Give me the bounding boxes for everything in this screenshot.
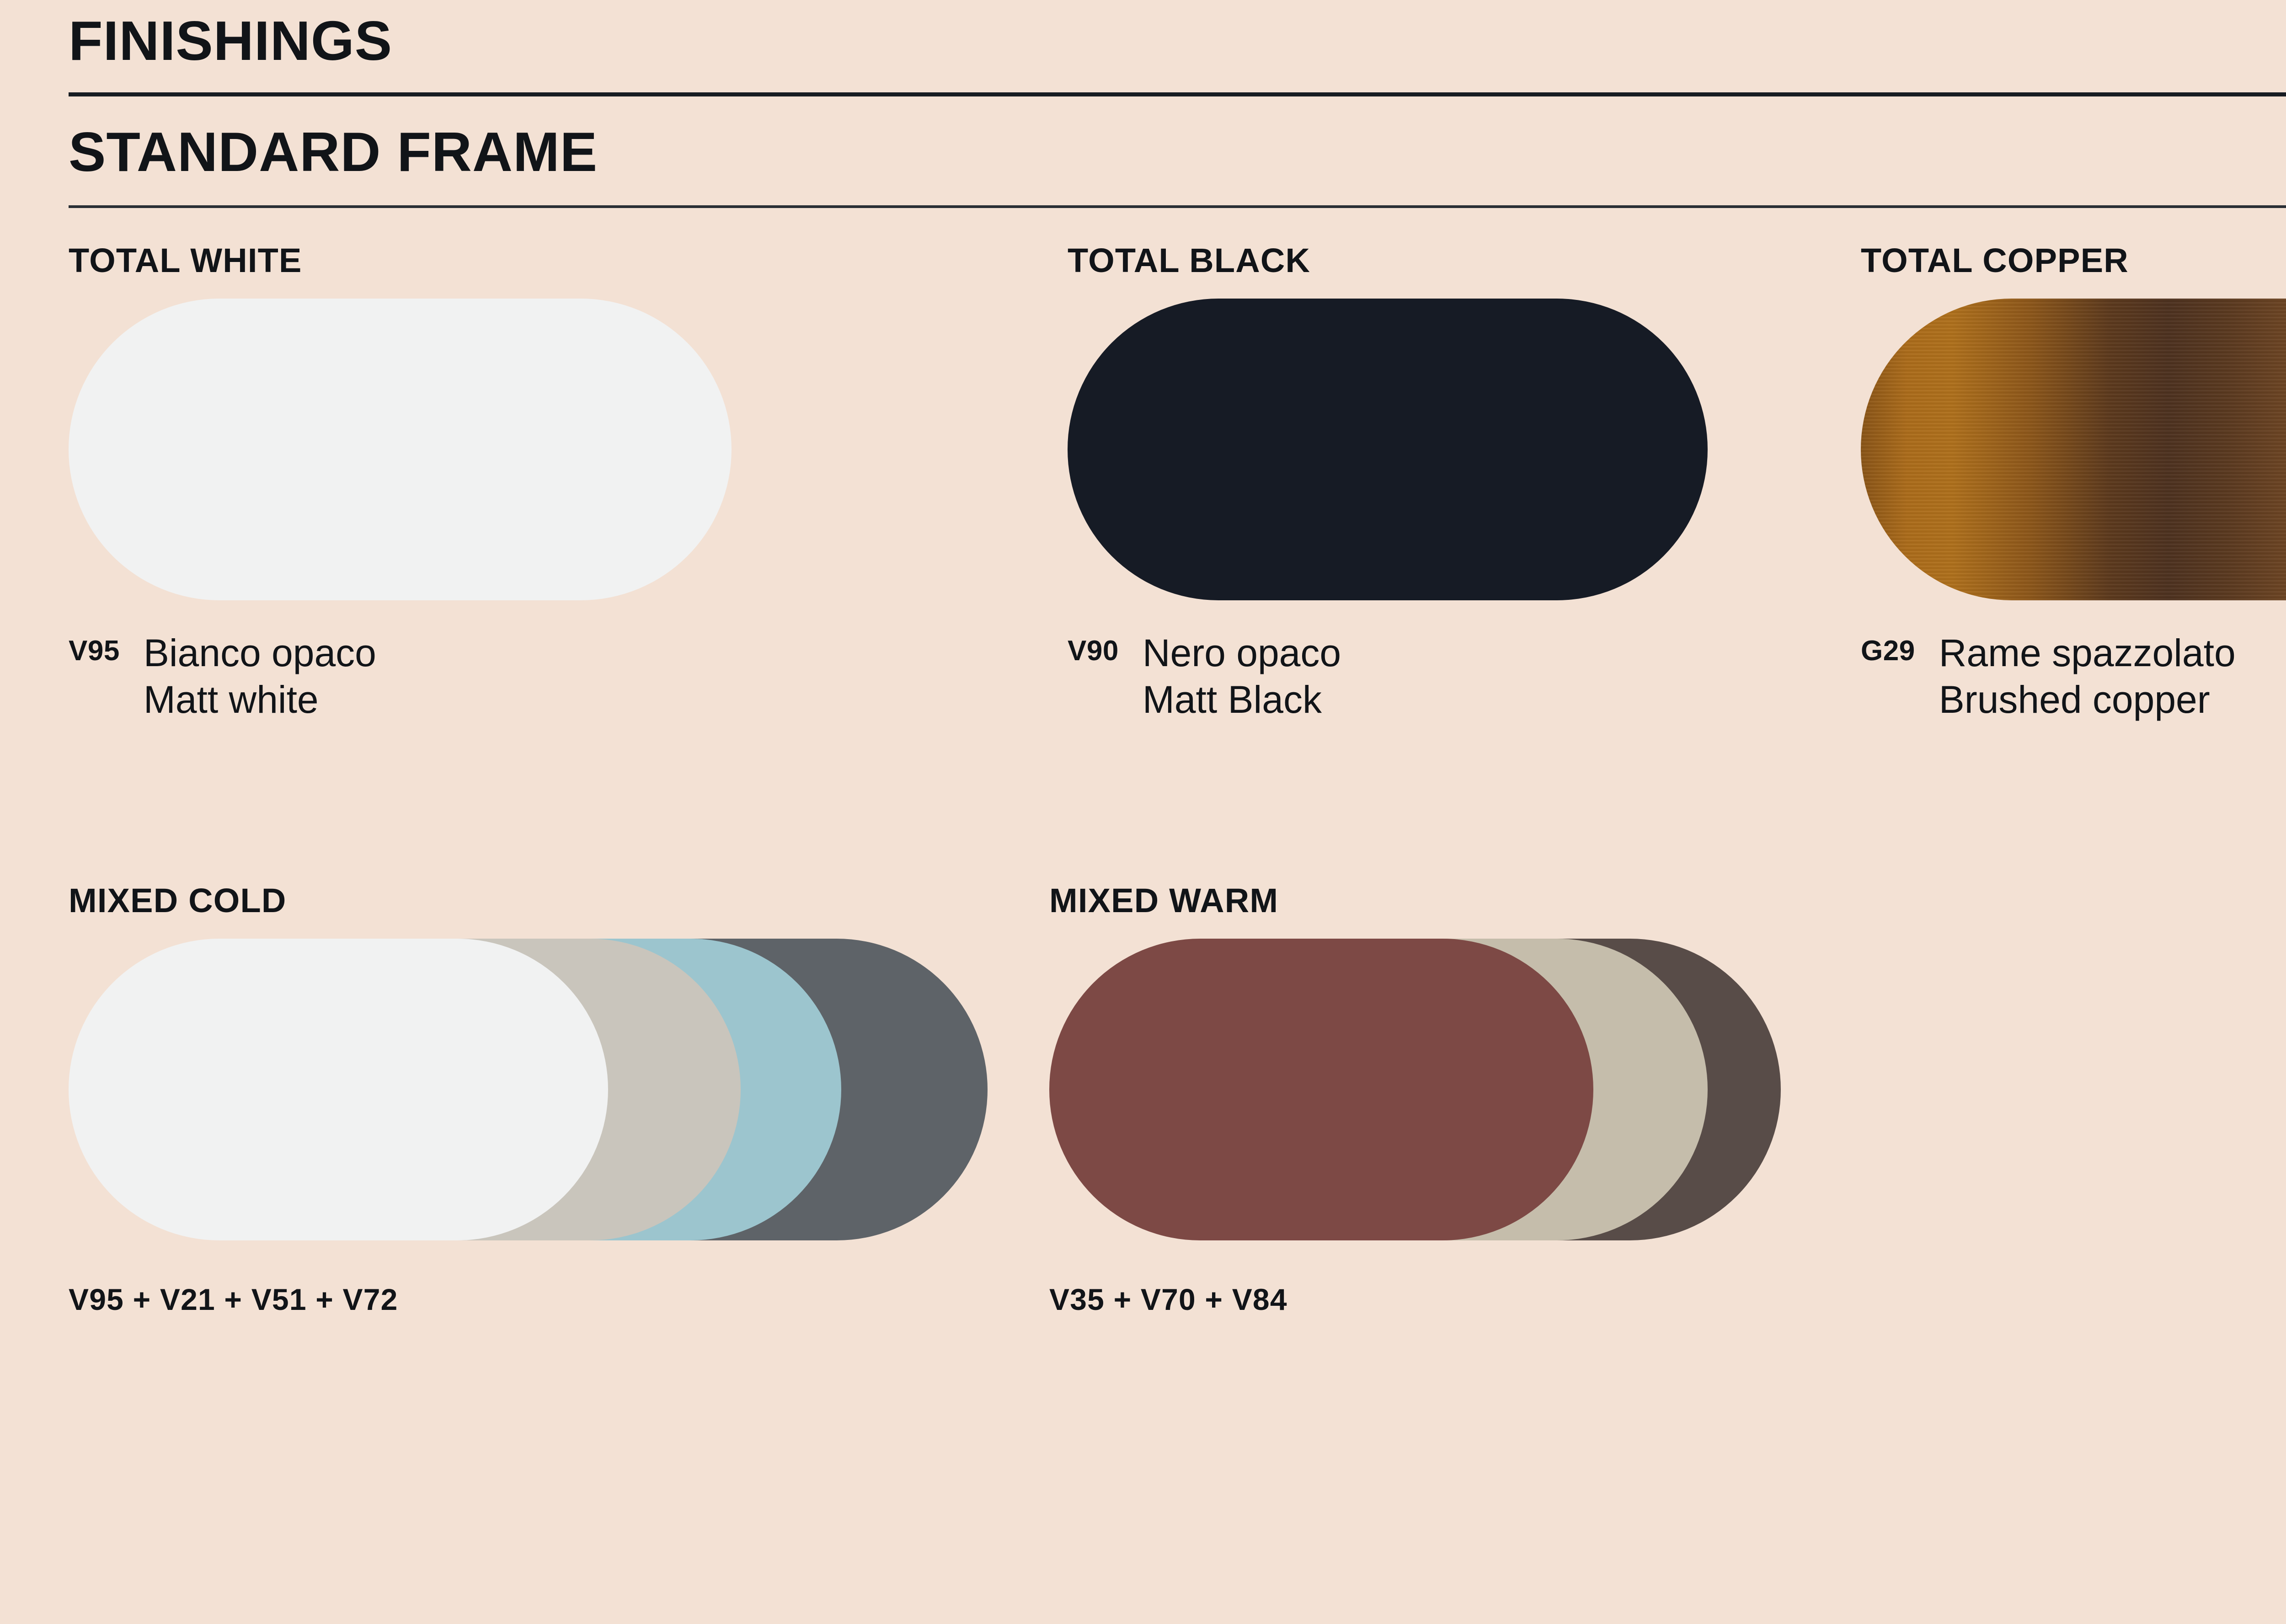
swatch-layer-v35 [1049, 939, 1593, 1240]
page-title: FINISHINGS [69, 0, 2286, 69]
category-label-total-copper: TOTAL COPPER [1861, 244, 2286, 278]
swatch-card-total-black[interactable]: TOTAL BLACK V90 Nero opaco Matt Black [1068, 244, 1708, 723]
category-label-mixed-warm: MIXED WARM [1049, 884, 1781, 918]
category-label-total-black: TOTAL BLACK [1068, 244, 1708, 278]
color-swatch-stack-mixed-cold[interactable] [69, 939, 983, 1240]
finish-name-en-v95: Matt white [144, 676, 376, 723]
category-label-mixed-cold: MIXED COLD [69, 884, 983, 918]
section-divider [69, 205, 2286, 208]
color-swatch-total-copper[interactable] [1861, 299, 2286, 600]
finish-codes-mixed-cold: V95 + V21 + V51 + V72 [69, 1284, 983, 1314]
title-divider [69, 92, 2286, 96]
finish-name-it-v90: Nero opaco [1143, 630, 1341, 676]
finishings-page: FINISHINGS STANDARD FRAME TOTAL WHITE V9… [0, 0, 2286, 1624]
finish-code-v95: V95 [69, 630, 120, 670]
color-swatch-stack-mixed-warm[interactable] [1049, 939, 1781, 1240]
finish-name-it-v95: Bianco opaco [144, 630, 376, 676]
standard-frame-row: TOTAL WHITE V95 Bianco opaco Matt white … [69, 244, 2286, 884]
finish-names-total-copper: Rame spazzolato Brushed copper [1939, 630, 2236, 723]
swatch-card-total-white[interactable]: TOTAL WHITE V95 Bianco opaco Matt white [69, 244, 732, 723]
finish-name-en-g29: Brushed copper [1939, 676, 2236, 723]
color-swatch-total-black[interactable] [1068, 299, 1708, 600]
mixed-frame-row: MIXED COLD V95 + V21 + V51 + V72 MIXED W… [69, 884, 2286, 1387]
swatch-caption-total-black: V90 Nero opaco Matt Black [1068, 630, 1708, 723]
swatch-card-mixed-warm[interactable]: MIXED WARM V35 + V70 + V84 [1049, 884, 1781, 1314]
finish-codes-mixed-warm: V35 + V70 + V84 [1049, 1284, 1781, 1314]
color-swatch-total-white[interactable] [69, 299, 732, 600]
finish-names-total-black: Nero opaco Matt Black [1143, 630, 1341, 723]
finish-code-v90: V90 [1068, 630, 1119, 670]
swatch-card-total-copper[interactable]: TOTAL COPPER G29 Rame spazzolato Brushed… [1861, 244, 2286, 723]
finish-code-g29: G29 [1861, 630, 1915, 670]
swatch-layer-v95 [69, 939, 608, 1240]
finish-names-total-white: Bianco opaco Matt white [144, 630, 376, 723]
section-title-standard-frame: STANDARD FRAME [69, 124, 2286, 180]
category-label-total-white: TOTAL WHITE [69, 244, 732, 278]
finish-name-it-g29: Rame spazzolato [1939, 630, 2236, 676]
swatch-card-mixed-cold[interactable]: MIXED COLD V95 + V21 + V51 + V72 [69, 884, 983, 1314]
swatch-caption-total-white: V95 Bianco opaco Matt white [69, 630, 732, 723]
swatch-caption-total-copper: G29 Rame spazzolato Brushed copper [1861, 630, 2286, 723]
finish-name-en-v90: Matt Black [1143, 676, 1341, 723]
